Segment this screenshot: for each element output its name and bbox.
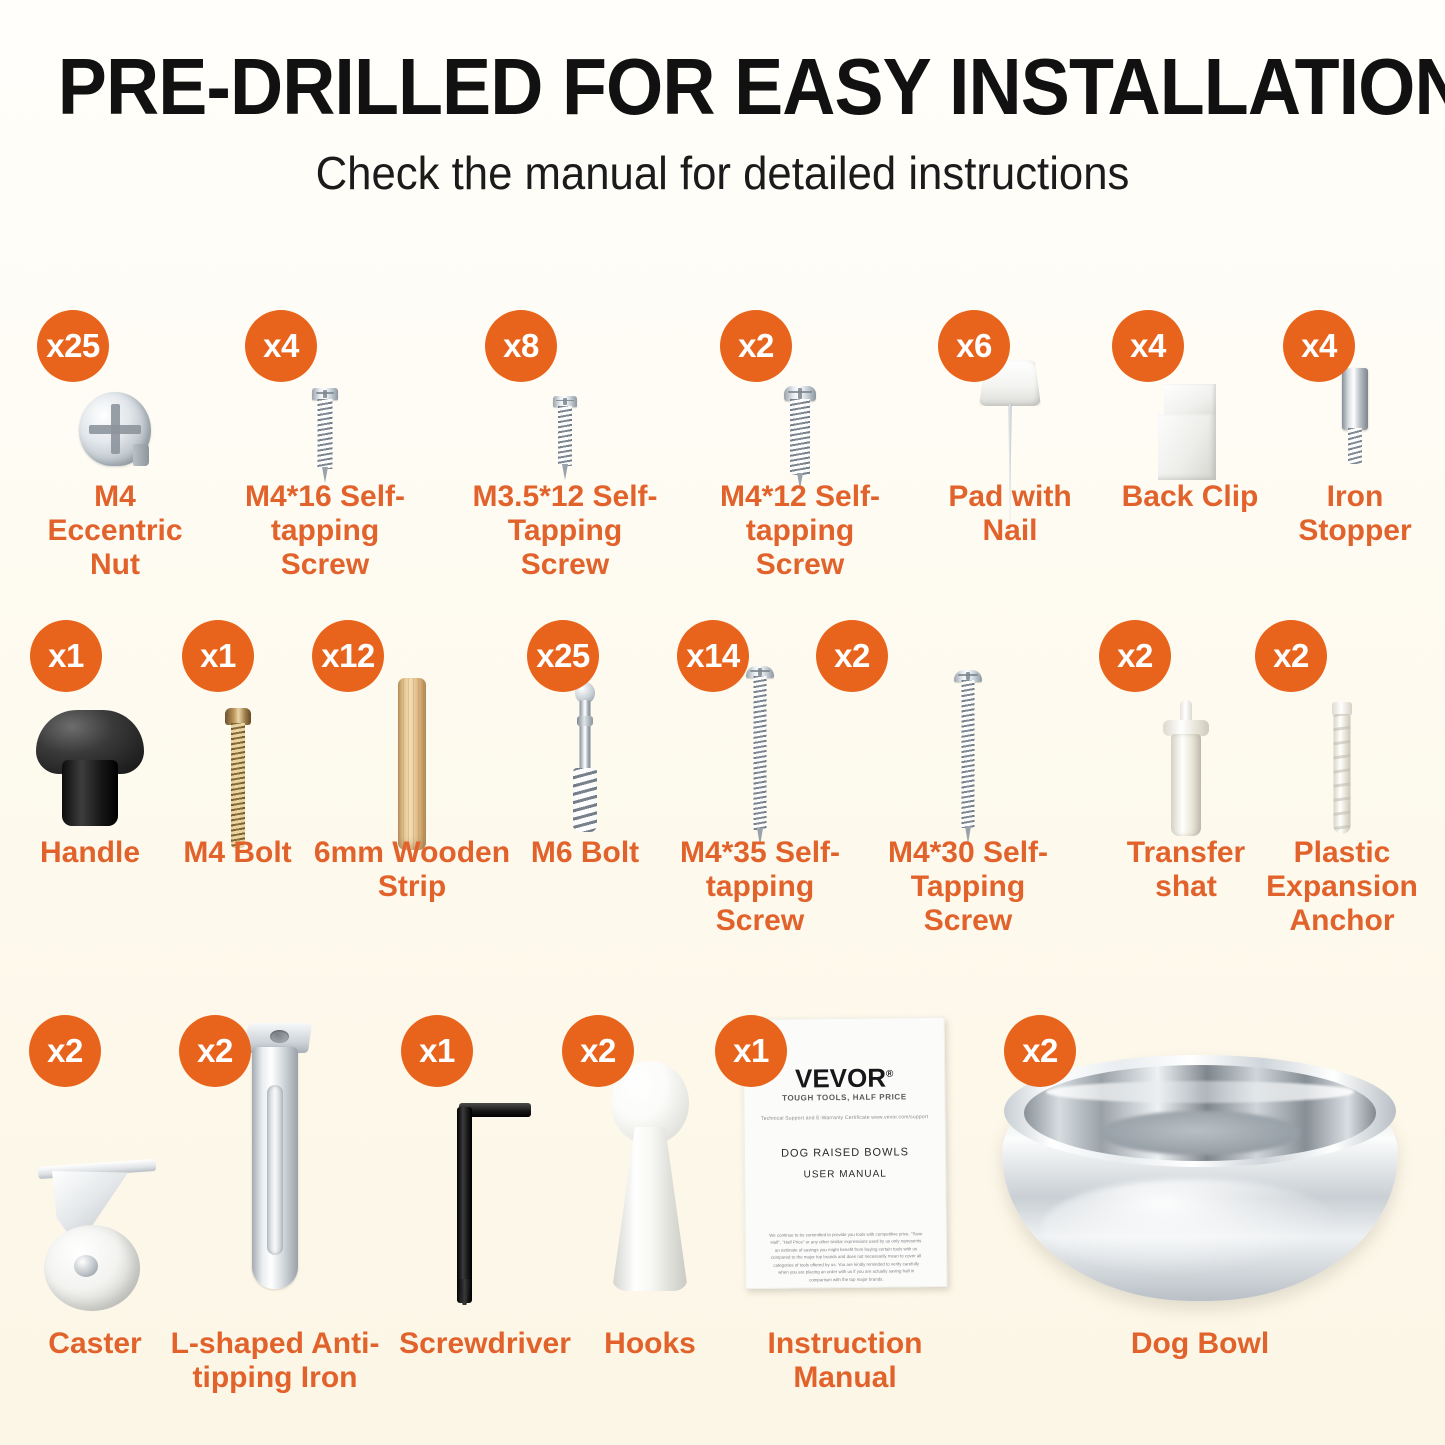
part-label: Handle xyxy=(5,836,175,870)
part-label: Screwdriver xyxy=(385,1327,585,1361)
qty-badge: x2 xyxy=(1004,1015,1076,1087)
back-clip-icon xyxy=(1110,384,1270,484)
part-iron-stopper: x4 Iron Stopper xyxy=(1275,310,1435,550)
qty-badge: x14 xyxy=(677,620,749,692)
qty-badge: x2 xyxy=(1099,620,1171,692)
wooden-dowel-icon xyxy=(332,678,492,858)
part-6mm-wooden-strip: x12 6mm Wooden Strip xyxy=(332,620,492,920)
qty-badge: x25 xyxy=(37,310,109,382)
manual-subtitle: USER MANUAL xyxy=(745,1168,945,1181)
part-m4x30-self-tapping-screw: x2 M4*30 Self- Tapping Screw xyxy=(888,620,1048,920)
qty-badge: x1 xyxy=(401,1015,473,1087)
manual-title: DOG RAISED BOWLS xyxy=(745,1146,945,1160)
part-back-clip: x4 Back Clip xyxy=(1110,310,1270,550)
qty-badge: x2 xyxy=(179,1015,251,1087)
iron-stopper-icon xyxy=(1275,368,1435,478)
header: PRE-DRILLED FOR EASY INSTALLATION Check … xyxy=(0,0,1445,200)
part-label: Dog Bowl xyxy=(1100,1327,1300,1361)
part-label: L-shaped Anti- tipping Iron xyxy=(160,1327,390,1395)
qty-badge: x12 xyxy=(312,620,384,692)
part-hooks: x2 Hooks xyxy=(570,1015,730,1405)
qty-badge: x4 xyxy=(1112,310,1184,382)
qty-badge: x25 xyxy=(527,620,599,692)
part-handle: x1 Handle xyxy=(10,620,170,920)
part-label: M4*12 Self- tapping Screw xyxy=(703,480,898,582)
part-m35x12-self-tapping-screw: x8 M3.5*12 Self- Tapping Screw xyxy=(485,310,645,550)
dog-bowl-icon xyxy=(1120,1055,1280,1315)
qty-badge: x1 xyxy=(182,620,254,692)
part-m6-bolt: x25 M6 Bolt xyxy=(505,620,665,920)
hook-icon xyxy=(570,1061,730,1311)
manual-tagline: TOUGH TOOLS, HALF PRICE xyxy=(744,1092,944,1103)
qty-badge: x2 xyxy=(816,620,888,692)
m6-cam-bolt-icon xyxy=(505,682,665,842)
qty-badge: x4 xyxy=(1283,310,1355,382)
eccentric-nut-icon xyxy=(35,392,195,482)
part-label: M4*35 Self- tapping Screw xyxy=(660,836,860,938)
part-transfer-shat: x2 Transfer shat xyxy=(1106,620,1266,920)
part-plastic-expansion-anchor: x2 Plastic Expansion Anchor xyxy=(1262,620,1422,920)
part-label: M3.5*12 Self- Tapping Screw xyxy=(465,480,665,582)
part-label: Hooks xyxy=(565,1327,735,1361)
page-subtitle: Check the manual for detailed instructio… xyxy=(36,128,1409,200)
parts-list-infographic: PRE-DRILLED FOR EASY INSTALLATION Check … xyxy=(0,0,1445,1445)
plastic-expansion-anchor-icon xyxy=(1262,702,1422,852)
part-m4-bolt: x1 M4 Bolt xyxy=(160,620,315,920)
long-screw-icon xyxy=(888,670,1048,860)
qty-badge: x2 xyxy=(29,1015,101,1087)
part-label: Transfer shat xyxy=(1101,836,1271,904)
long-screw-icon xyxy=(680,666,840,856)
part-label: M6 Bolt xyxy=(500,836,670,870)
qty-badge: x6 xyxy=(938,310,1010,382)
part-label: Plastic Expansion Anchor xyxy=(1252,836,1432,938)
part-label: Back Clip xyxy=(1100,480,1280,514)
qty-badge: x8 xyxy=(485,310,557,382)
instruction-manual-icon: VEVOR® TOUGH TOOLS, HALF PRICE Technical… xyxy=(765,1018,925,1308)
caster-icon xyxy=(15,1163,175,1323)
manual-support-line: Technical Support and E-Warranty Certifi… xyxy=(745,1114,945,1122)
transfer-shat-icon xyxy=(1106,700,1266,850)
part-caster: x2 Caster xyxy=(15,1015,175,1405)
part-label: M4 Bolt xyxy=(155,836,320,870)
handle-knob-icon xyxy=(10,710,170,840)
manual-fineprint: We continue to be committed to provide y… xyxy=(768,1230,925,1284)
qty-badge: x1 xyxy=(30,620,102,692)
part-screwdriver: x1 Screwdriver xyxy=(405,1015,565,1405)
part-m4x16-self-tapping-screw: x4 M4*16 Self- tapping Screw xyxy=(245,310,405,550)
qty-badge: x4 xyxy=(245,310,317,382)
part-m4x35-self-tapping-screw: x14 M4*35 Self- tapping Screw xyxy=(680,620,840,920)
part-l-shaped-anti-tipping-iron: x2 L-shaped Anti- tipping Iron xyxy=(195,1015,355,1405)
part-label: Pad with Nail xyxy=(925,480,1095,548)
allen-key-icon xyxy=(405,1103,565,1313)
qty-badge: x2 xyxy=(1255,620,1327,692)
part-label: Iron Stopper xyxy=(1270,480,1440,548)
part-instruction-manual: x1 VEVOR® TOUGH TOOLS, HALF PRICE Techni… xyxy=(765,1015,925,1405)
part-m4-eccentric-nut: x25 M4 Eccentric Nut xyxy=(35,310,195,550)
part-label: 6mm Wooden Strip xyxy=(312,836,512,904)
part-label: M4 Eccentric Nut xyxy=(25,480,205,582)
part-label: Caster xyxy=(10,1327,180,1361)
qty-badge: x1 xyxy=(715,1015,787,1087)
self-tapping-screw-icon xyxy=(245,388,405,488)
part-dog-bowl: x2 Dog Bowl xyxy=(1120,1015,1280,1405)
page-title: PRE-DRILLED FOR EASY INSTALLATION xyxy=(58,0,1387,128)
part-pad-with-nail: x6 Pad with Nail xyxy=(930,310,1090,550)
part-m4x12-self-tapping-screw: x2 M4*12 Self- tapping Screw xyxy=(720,310,880,550)
part-label: Instruction Manual xyxy=(745,1327,945,1395)
part-label: M4*16 Self- tapping Screw xyxy=(230,480,420,582)
pad-with-nail-icon xyxy=(930,360,1090,490)
part-label: M4*30 Self- Tapping Screw xyxy=(866,836,1071,938)
qty-badge: x2 xyxy=(562,1015,634,1087)
qty-badge: x2 xyxy=(720,310,792,382)
